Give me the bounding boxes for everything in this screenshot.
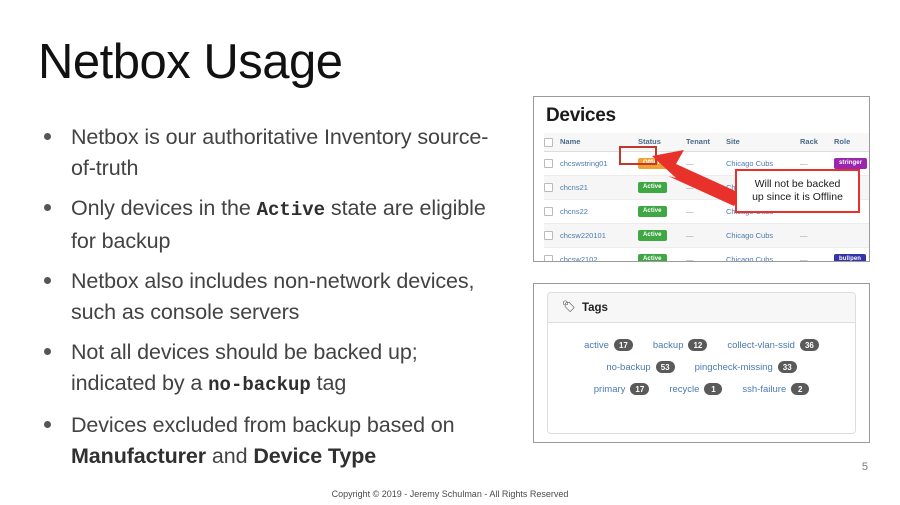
tags-card-header: 🏷 Tags — [548, 293, 855, 323]
role-badge: bullpen — [834, 247, 870, 262]
status-badge: Active — [638, 247, 686, 262]
bullet-text-part: no-backup — [208, 374, 311, 396]
tags-card: 🏷 Tags active17backup12collect-vlan-ssid… — [547, 292, 856, 434]
page-number: 5 — [862, 461, 868, 473]
checkbox-icon[interactable] — [544, 207, 553, 216]
annotation-line-2: up since it is Offline — [752, 191, 843, 203]
status-badge: Offline — [638, 151, 686, 175]
tag-count-badge: 1 — [704, 383, 722, 395]
tags-row: primary17recycle1ssh-failure2 — [562, 383, 841, 395]
footer-copyright: Copyright © 2019 - Jeremy Schulman - All… — [0, 489, 900, 499]
table-row[interactable]: chcsw220101Active—Chicago Cubs— — [544, 223, 870, 247]
bullet-list: Netbox is our authoritative Inventory so… — [44, 122, 504, 481]
checkbox-icon[interactable] — [544, 159, 553, 168]
tag-name[interactable]: active — [584, 340, 609, 351]
tag-count-badge: 17 — [614, 339, 633, 351]
tags-body: active17backup12collect-vlan-ssid36no-ba… — [548, 323, 855, 415]
bullet-dot-icon — [44, 133, 51, 140]
column-header-status: Status — [638, 133, 686, 151]
bullet-text-part: and — [206, 444, 253, 468]
table-header-row: NameStatusTenantSiteRackRole — [544, 133, 870, 151]
checkbox-icon[interactable] — [544, 138, 553, 147]
bullet-text-part: tag — [311, 371, 346, 395]
bullet-text-part: Device Type — [253, 444, 376, 468]
site-link[interactable]: Chicago Cubs — [726, 223, 800, 247]
bullet-item-5: Devices excluded from backup based on Ma… — [44, 410, 504, 472]
tenant-cell: — — [686, 247, 726, 262]
bullet-item-4: Not all devices should be backed up; ind… — [44, 337, 504, 401]
role-badge-label: stringer — [834, 158, 867, 169]
tag-name[interactable]: collect-vlan-ssid — [727, 340, 795, 351]
bullet-text-part: Active — [257, 199, 325, 221]
status-badge: Active — [638, 199, 686, 223]
bullet-item-2: Only devices in the Active state are eli… — [44, 193, 504, 257]
tags-row: active17backup12collect-vlan-ssid36 — [562, 339, 841, 351]
rack-cell: — — [800, 247, 834, 262]
bullet-text: Only devices in the Active state are eli… — [71, 193, 504, 257]
status-badge-label: Active — [638, 254, 667, 262]
select-all-checkbox[interactable] — [544, 133, 560, 151]
role-badge-label: bullpen — [834, 254, 866, 262]
checkbox-icon[interactable] — [544, 255, 553, 262]
bullet-dot-icon — [44, 421, 51, 428]
annotation-line-1: Will not be backed — [755, 178, 841, 190]
status-badge: Active — [638, 175, 686, 199]
bullet-text: Netbox also includes non-network devices… — [71, 266, 504, 328]
bullet-text: Devices excluded from backup based on Ma… — [71, 410, 504, 472]
tag-count-badge: 17 — [630, 383, 649, 395]
row-checkbox[interactable] — [544, 223, 560, 247]
tag-count-badge: 12 — [688, 339, 707, 351]
tag-count-badge: 33 — [778, 361, 797, 373]
site-link[interactable]: Chicago Cubs — [726, 247, 800, 262]
status-badge-label: Active — [638, 182, 667, 193]
status-badge-label: Active — [638, 230, 667, 241]
tag-chip-ssh-failure[interactable]: ssh-failure2 — [742, 383, 809, 395]
rack-cell: — — [800, 223, 834, 247]
tag-chip-primary[interactable]: primary17 — [594, 383, 650, 395]
bullet-text-part: Only devices in the — [71, 196, 257, 220]
tag-count-badge: 2 — [791, 383, 809, 395]
tag-name[interactable]: recycle — [669, 384, 699, 395]
tenant-cell: — — [686, 199, 726, 223]
tag-chip-recycle[interactable]: recycle1 — [669, 383, 722, 395]
tenant-cell: — — [686, 151, 726, 175]
tag-chip-no-backup[interactable]: no-backup53 — [606, 361, 674, 373]
tag-name[interactable]: ssh-failure — [742, 384, 786, 395]
bullet-text-part: Manufacturer — [71, 444, 206, 468]
tag-name[interactable]: primary — [594, 384, 626, 395]
tag-name[interactable]: no-backup — [606, 362, 650, 373]
tag-name[interactable]: pingcheck-missing — [695, 362, 773, 373]
tag-icon: 🏷 — [562, 302, 576, 313]
bullet-text-part: Netbox is our authoritative Inventory so… — [71, 125, 488, 180]
column-header-name: Name — [560, 133, 638, 151]
row-checkbox[interactable] — [544, 199, 560, 223]
annotation-callout-box: Will not be backed up since it is Offlin… — [735, 169, 860, 213]
page-title: Netbox Usage — [38, 34, 343, 90]
device-name-link[interactable]: chcsw2102 — [560, 247, 638, 262]
status-badge-label: Active — [638, 206, 667, 217]
checkbox-icon[interactable] — [544, 183, 553, 192]
bullet-dot-icon — [44, 348, 51, 355]
annotation-callout-text: Will not be backed up since it is Offlin… — [748, 178, 847, 204]
tenant-cell: — — [686, 175, 726, 199]
column-header-rack: Rack — [800, 133, 834, 151]
tenant-cell: — — [686, 223, 726, 247]
status-badge-label: Offline — [638, 158, 668, 169]
bullet-dot-icon — [44, 277, 51, 284]
row-checkbox[interactable] — [544, 247, 560, 262]
bullet-text: Netbox is our authoritative Inventory so… — [71, 122, 504, 184]
tag-chip-backup[interactable]: backup12 — [653, 339, 708, 351]
bullet-dot-icon — [44, 204, 51, 211]
bullet-item-3: Netbox also includes non-network devices… — [44, 266, 504, 328]
device-name-link[interactable]: chcns21 — [560, 175, 638, 199]
tag-chip-pingcheck-missing[interactable]: pingcheck-missing33 — [695, 361, 797, 373]
tag-count-badge: 36 — [800, 339, 819, 351]
devices-heading: Devices — [546, 105, 859, 127]
bullet-text: Not all devices should be backed up; ind… — [71, 337, 504, 401]
device-name-link[interactable]: chcsw220101 — [560, 223, 638, 247]
row-checkbox[interactable] — [544, 175, 560, 199]
tag-chip-active[interactable]: active17 — [584, 339, 633, 351]
tags-card-title: Tags — [582, 302, 608, 314]
bullet-text-part: Devices excluded from backup based on — [71, 413, 455, 437]
tag-name[interactable]: backup — [653, 340, 684, 351]
column-header-site: Site — [726, 133, 800, 151]
tag-count-badge: 53 — [656, 361, 675, 373]
table-row[interactable]: chcsw2102Active—Chicago Cubs—bullpen — [544, 247, 870, 262]
checkbox-icon[interactable] — [544, 231, 553, 240]
role-badge — [834, 223, 870, 247]
tag-chip-collect-vlan-ssid[interactable]: collect-vlan-ssid36 — [727, 339, 818, 351]
column-header-role: Role — [834, 133, 870, 151]
bullet-item-1: Netbox is our authoritative Inventory so… — [44, 122, 504, 184]
device-name-link[interactable]: chcns22 — [560, 199, 638, 223]
row-checkbox[interactable] — [544, 151, 560, 175]
tags-row: no-backup53pingcheck-missing33 — [562, 361, 841, 373]
status-badge: Active — [638, 223, 686, 247]
column-header-tenant: Tenant — [686, 133, 726, 151]
bullet-text-part: Netbox also includes non-network devices… — [71, 269, 474, 324]
device-name-link[interactable]: chcswstring01 — [560, 151, 638, 175]
